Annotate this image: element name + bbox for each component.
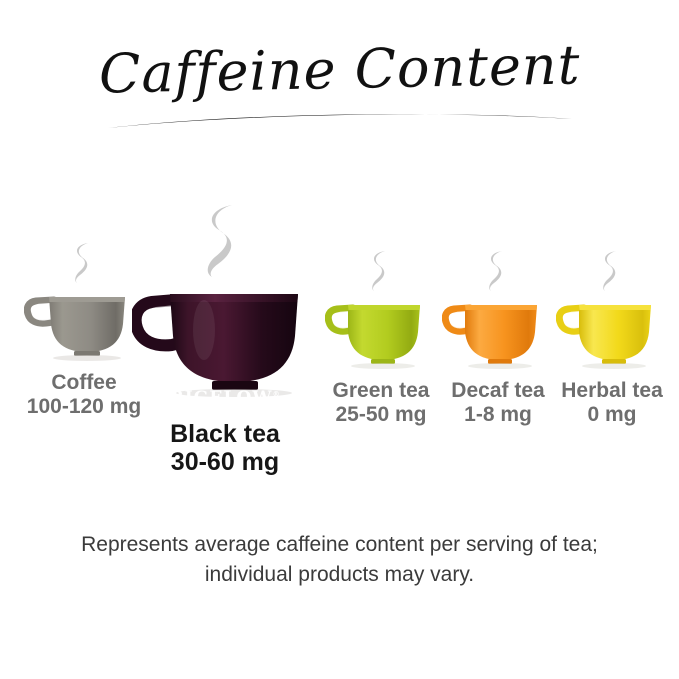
steam-icon (196, 202, 254, 278)
steam-greentea-wrap (361, 248, 401, 292)
cup-graphic-coffee (24, 284, 144, 362)
greentea-cup-svg (325, 292, 437, 370)
herbaltea-cup-svg (556, 292, 668, 370)
cup-graphic-greentea (325, 292, 437, 370)
cup-label-blacktea: Black tea 30-60 mg (130, 420, 320, 477)
caption-line-1: Represents average caffeine content per … (0, 530, 679, 560)
cup-graphic-decaftea (442, 292, 554, 370)
page-title: Caffeine Content (98, 37, 580, 103)
cup-amount: 30-60 mg (130, 448, 320, 476)
blacktea-cup-svg (132, 278, 318, 400)
cup-label-herbaltea: Herbal tea 0 mg (542, 379, 679, 426)
cup-amount: 0 mg (542, 403, 679, 427)
brand-tagline: FAMILY TEA BLENDERS SINCE 1945 (166, 410, 284, 415)
steam-icon (64, 240, 104, 284)
cup-graphic-herbaltea (556, 292, 668, 370)
cups-row: Coffee 100-120 mg (0, 196, 679, 496)
caption-line-2: individual products may vary. (0, 560, 679, 590)
cup-name: Herbal tea (542, 379, 679, 403)
steam-icon (478, 248, 518, 292)
title-block: Caffeine Content (0, 42, 679, 99)
steam-icon (592, 248, 632, 292)
caffeine-content-infographic: Caffeine Content (0, 0, 679, 679)
cup-item-blacktea: BIGELOW® FAMILY TEA BLENDERS SINCE 1945 … (130, 202, 320, 477)
cup-graphic-blacktea: BIGELOW® FAMILY TEA BLENDERS SINCE 1945 (132, 278, 318, 400)
steam-herbaltea-wrap (592, 248, 632, 292)
steam-decaftea-wrap (478, 248, 518, 292)
steam-blacktea-wrap (196, 202, 254, 278)
brand-divider (166, 408, 284, 409)
steam-coffee-wrap (64, 240, 104, 284)
coffee-cup-svg (24, 284, 144, 362)
steam-icon (361, 248, 401, 292)
title-swash-decoration (0, 96, 679, 136)
cup-item-herbaltea: Herbal tea 0 mg (542, 248, 679, 426)
decaftea-cup-svg (442, 292, 554, 370)
footnote-caption: Represents average caffeine content per … (0, 530, 679, 591)
cup-name: Black tea (130, 420, 320, 448)
